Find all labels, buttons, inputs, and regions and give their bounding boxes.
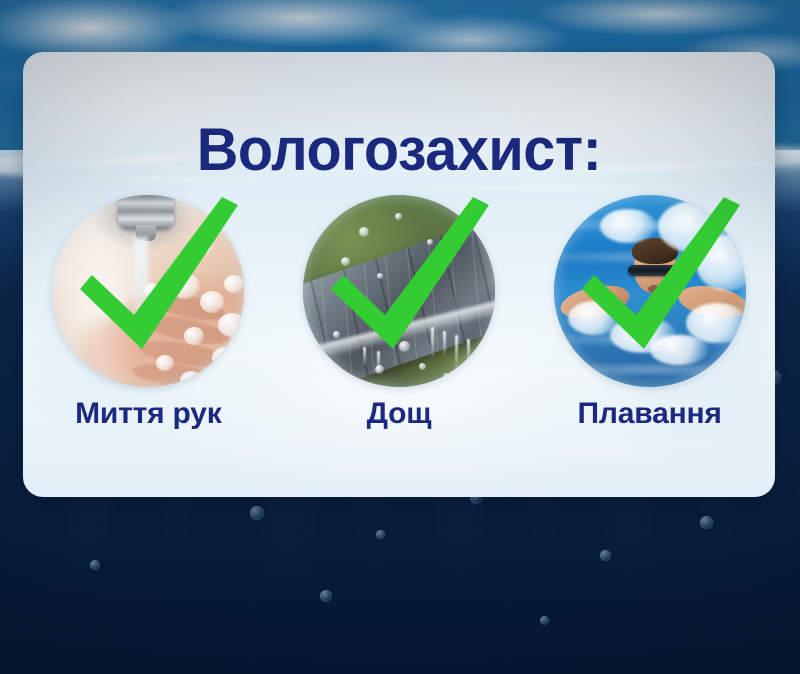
- benefit-list: Миття рук: [23, 195, 775, 485]
- rain-umbrella-photo: [303, 195, 495, 387]
- benefit-label-swimming: Плавання: [578, 397, 722, 431]
- benefit-image-wrap-swimming: [554, 195, 746, 387]
- hand-washing-photo: [52, 195, 244, 387]
- benefit-image-wrap-hand-washing: [52, 195, 244, 387]
- swimmer-photo: [554, 195, 746, 387]
- benefit-image-wrap-rain: [303, 195, 495, 387]
- content-card: Вологозахист:: [23, 52, 775, 497]
- benefit-item-hand-washing[interactable]: Миття рук: [33, 195, 263, 431]
- benefit-item-swimming[interactable]: Плавання: [535, 195, 765, 431]
- benefit-label-hand-washing: Миття рук: [75, 397, 222, 431]
- benefit-item-rain[interactable]: Дощ: [284, 195, 514, 431]
- infographic-poster: Вологозахист:: [0, 0, 800, 674]
- benefit-label-rain: Дощ: [367, 397, 432, 431]
- page-title: Вологозахист:: [38, 115, 760, 184]
